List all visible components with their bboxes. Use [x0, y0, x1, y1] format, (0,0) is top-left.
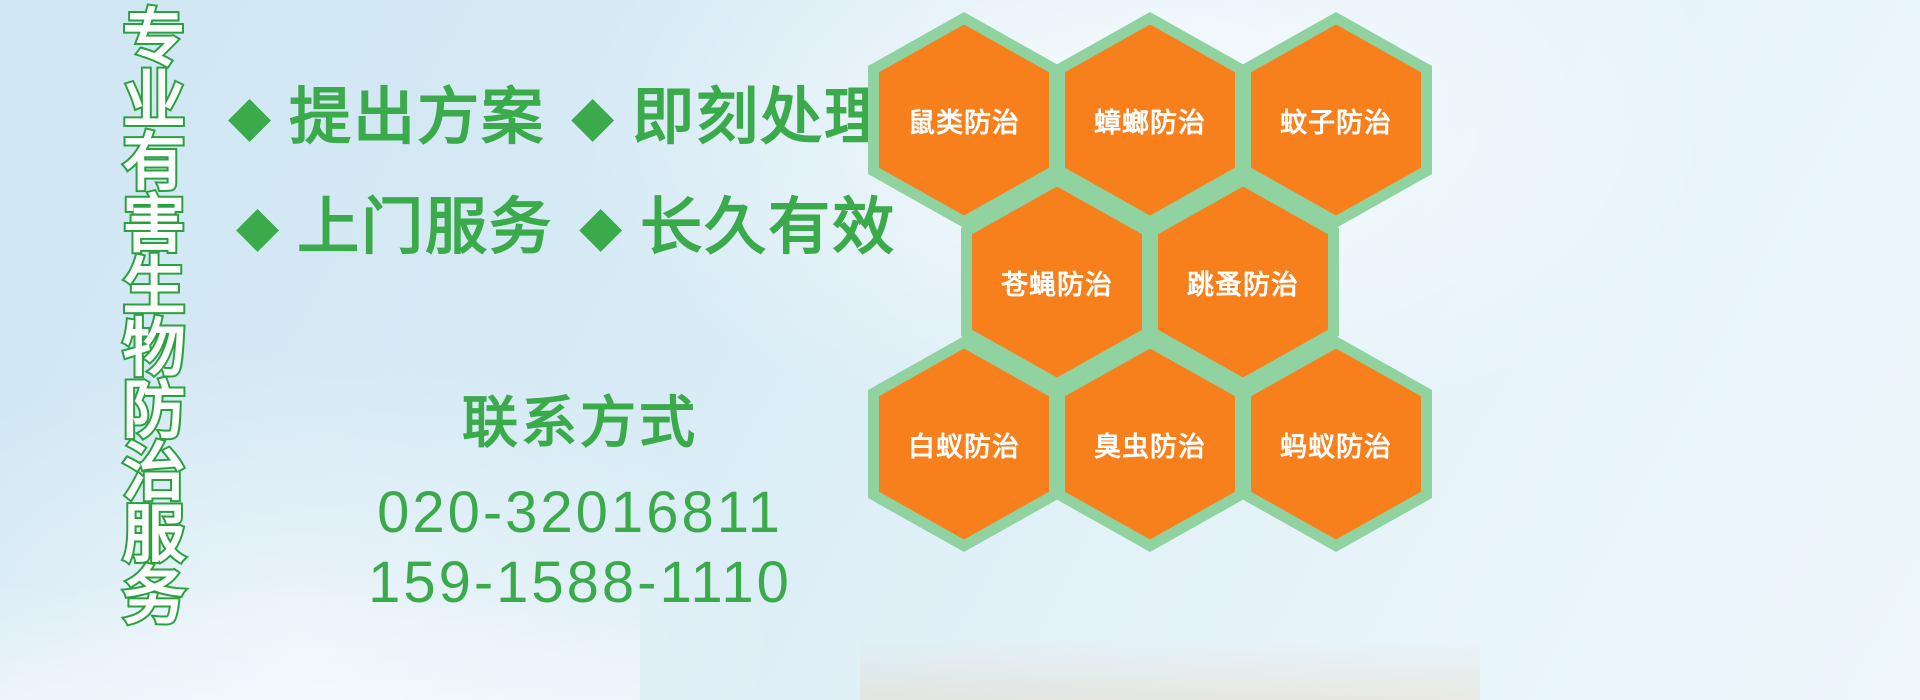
vertical-slogan-char: 物	[123, 318, 186, 380]
hex-inner: 白蚁防治	[879, 349, 1049, 540]
feature-row-1: ◆ 提出方案 ◆ 即刻处理	[228, 86, 888, 148]
diamond-bullet-icon: ◆	[228, 89, 271, 145]
contact-title: 联系方式	[300, 392, 860, 456]
service-label: 苍蝇防治	[1001, 263, 1113, 302]
feature-label: 即刻处理	[632, 86, 888, 148]
vertical-slogan-char: 害	[123, 194, 186, 256]
vertical-slogan: 专 业 有 害 生 物 防 治 服 务	[104, 8, 204, 628]
vertical-slogan-char: 专	[123, 8, 186, 70]
vertical-slogan-char: 业	[123, 70, 186, 132]
service-label: 鼠类防治	[908, 101, 1020, 140]
diamond-bullet-icon: ◆	[571, 89, 614, 145]
hex-inner: 蚂蚁防治	[1251, 349, 1421, 540]
service-label: 臭虫防治	[1094, 425, 1206, 464]
contact-block: 联系方式 020-32016811 159-1588-1110	[300, 392, 860, 618]
service-label: 蚂蚁防治	[1280, 425, 1392, 464]
feature-label: 上门服务	[297, 196, 553, 258]
diamond-bullet-icon: ◆	[236, 199, 279, 255]
service-label: 蚊子防治	[1280, 101, 1392, 140]
vertical-slogan-char: 有	[123, 132, 186, 194]
service-label: 蟑螂防治	[1094, 101, 1206, 140]
banner-canvas: 专 业 有 害 生 物 防 治 服 务 ◆ 提出方案 ◆ 即刻处理 ◆ 上门服务…	[0, 0, 1920, 700]
hex-inner: 蟑螂防治	[1065, 25, 1235, 216]
service-label: 白蚁防治	[908, 425, 1020, 464]
service-label: 跳蚤防治	[1187, 263, 1299, 302]
hex-inner: 臭虫防治	[1065, 349, 1235, 540]
diamond-bullet-icon: ◆	[579, 199, 622, 255]
feature-row-2: ◆ 上门服务 ◆ 长久有效	[236, 196, 896, 258]
vertical-slogan-char: 治	[123, 442, 186, 504]
vertical-slogan-char: 防	[123, 380, 186, 442]
vertical-slogan-char: 生	[123, 256, 186, 318]
phone-mobile[interactable]: 159-1588-1110	[300, 548, 860, 618]
hex-inner: 跳蚤防治	[1158, 187, 1328, 378]
phone-landline[interactable]: 020-32016811	[300, 478, 860, 548]
feature-label: 提出方案	[289, 86, 545, 148]
hex-inner: 苍蝇防治	[972, 187, 1142, 378]
vertical-slogan-char: 服	[123, 504, 186, 566]
feature-label: 长久有效	[640, 196, 896, 258]
hex-inner: 蚊子防治	[1251, 25, 1421, 216]
service-honeycomb: 鼠类防治 蟑螂防治 蚊子防治 苍蝇防治 跳蚤防治 白蚁防治	[862, 0, 1462, 700]
hex-inner: 鼠类防治	[879, 25, 1049, 216]
vertical-slogan-char: 务	[123, 566, 186, 628]
